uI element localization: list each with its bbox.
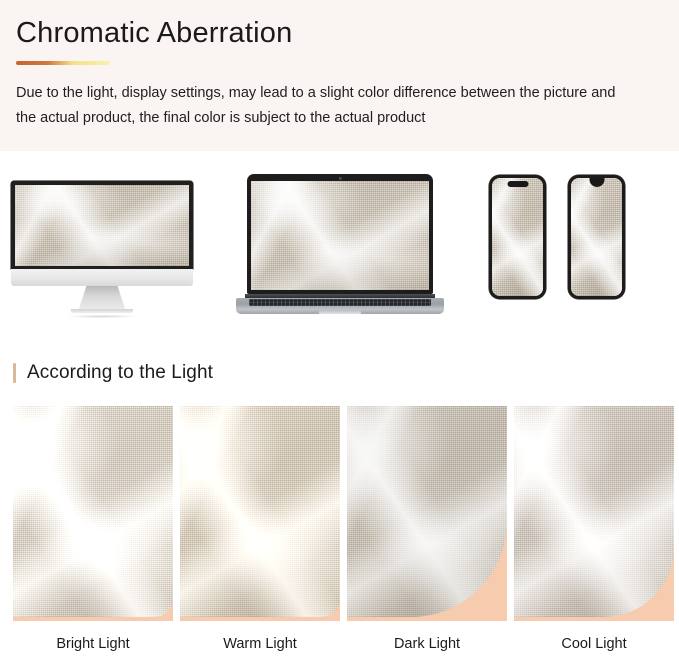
laptop-lid	[247, 174, 433, 294]
dynamic-island-icon	[507, 181, 528, 187]
laptop-base	[236, 298, 444, 314]
heading-accent-bar	[13, 363, 16, 383]
monitor-stand-neck	[79, 286, 125, 309]
monitor-screen	[15, 185, 189, 266]
swatch-image-bright-light	[13, 406, 173, 621]
swatch-cell: Cool Light	[514, 406, 674, 652]
fabric-texture-phone-a	[492, 178, 543, 296]
laptop-keyboard	[249, 299, 431, 306]
swatch-label: Warm Light	[180, 636, 340, 652]
monitor-bezel	[11, 181, 193, 269]
fabric-texture-warm	[180, 406, 340, 617]
phone-screen-a	[492, 178, 543, 296]
swatch-image-cool-light	[514, 406, 674, 621]
webcam-icon	[339, 177, 342, 180]
monitor-stand-foot	[71, 309, 133, 313]
swatch-cell: Bright Light	[13, 406, 173, 652]
swatch-fabric-crop	[180, 406, 340, 617]
device-mockup-row	[0, 151, 679, 346]
smartphone-teardrop-notch-mockup	[568, 175, 625, 299]
header-band: Chromatic Aberration Due to the light, d…	[0, 0, 679, 151]
swatch-image-dark-light	[347, 406, 507, 621]
fabric-texture-laptop	[251, 181, 429, 290]
title-accent-rule	[16, 61, 110, 65]
phone-screen-b	[571, 178, 622, 296]
swatch-fabric-crop	[347, 406, 507, 617]
fabric-texture-monitor	[15, 185, 189, 266]
swatch-fabric-crop	[514, 406, 674, 617]
monitor-chin	[11, 269, 193, 286]
swatch-label: Cool Light	[514, 636, 674, 652]
smartphone-pill-notch-mockup	[489, 175, 546, 299]
monitor-shadow	[66, 315, 138, 318]
header-description: Due to the light, display settings, may …	[16, 81, 638, 131]
fabric-texture-phone-b	[571, 178, 622, 296]
swatch-cell: Warm Light	[180, 406, 340, 652]
fabric-texture-bright	[13, 406, 173, 617]
swatch-label: Bright Light	[13, 636, 173, 652]
fabric-texture-dark	[347, 406, 507, 617]
light-section-heading: According to the Light	[0, 352, 679, 394]
chromatic-aberration-page: Chromatic Aberration Due to the light, d…	[0, 0, 679, 667]
desktop-monitor-mockup	[11, 181, 193, 318]
fabric-texture-cool	[514, 406, 674, 617]
laptop-trackpad	[319, 310, 361, 314]
laptop-screen	[251, 181, 429, 290]
swatch-fabric-crop	[13, 406, 173, 617]
swatch-label: Dark Light	[347, 636, 507, 652]
swatch-cell: Dark Light	[347, 406, 507, 652]
page-title: Chromatic Aberration	[16, 14, 663, 52]
heading-label: According to the Light	[27, 362, 213, 384]
laptop-mockup	[236, 174, 444, 314]
light-swatch-grid: Bright Light Warm Light Dark Light	[13, 406, 666, 652]
swatch-image-warm-light	[180, 406, 340, 621]
